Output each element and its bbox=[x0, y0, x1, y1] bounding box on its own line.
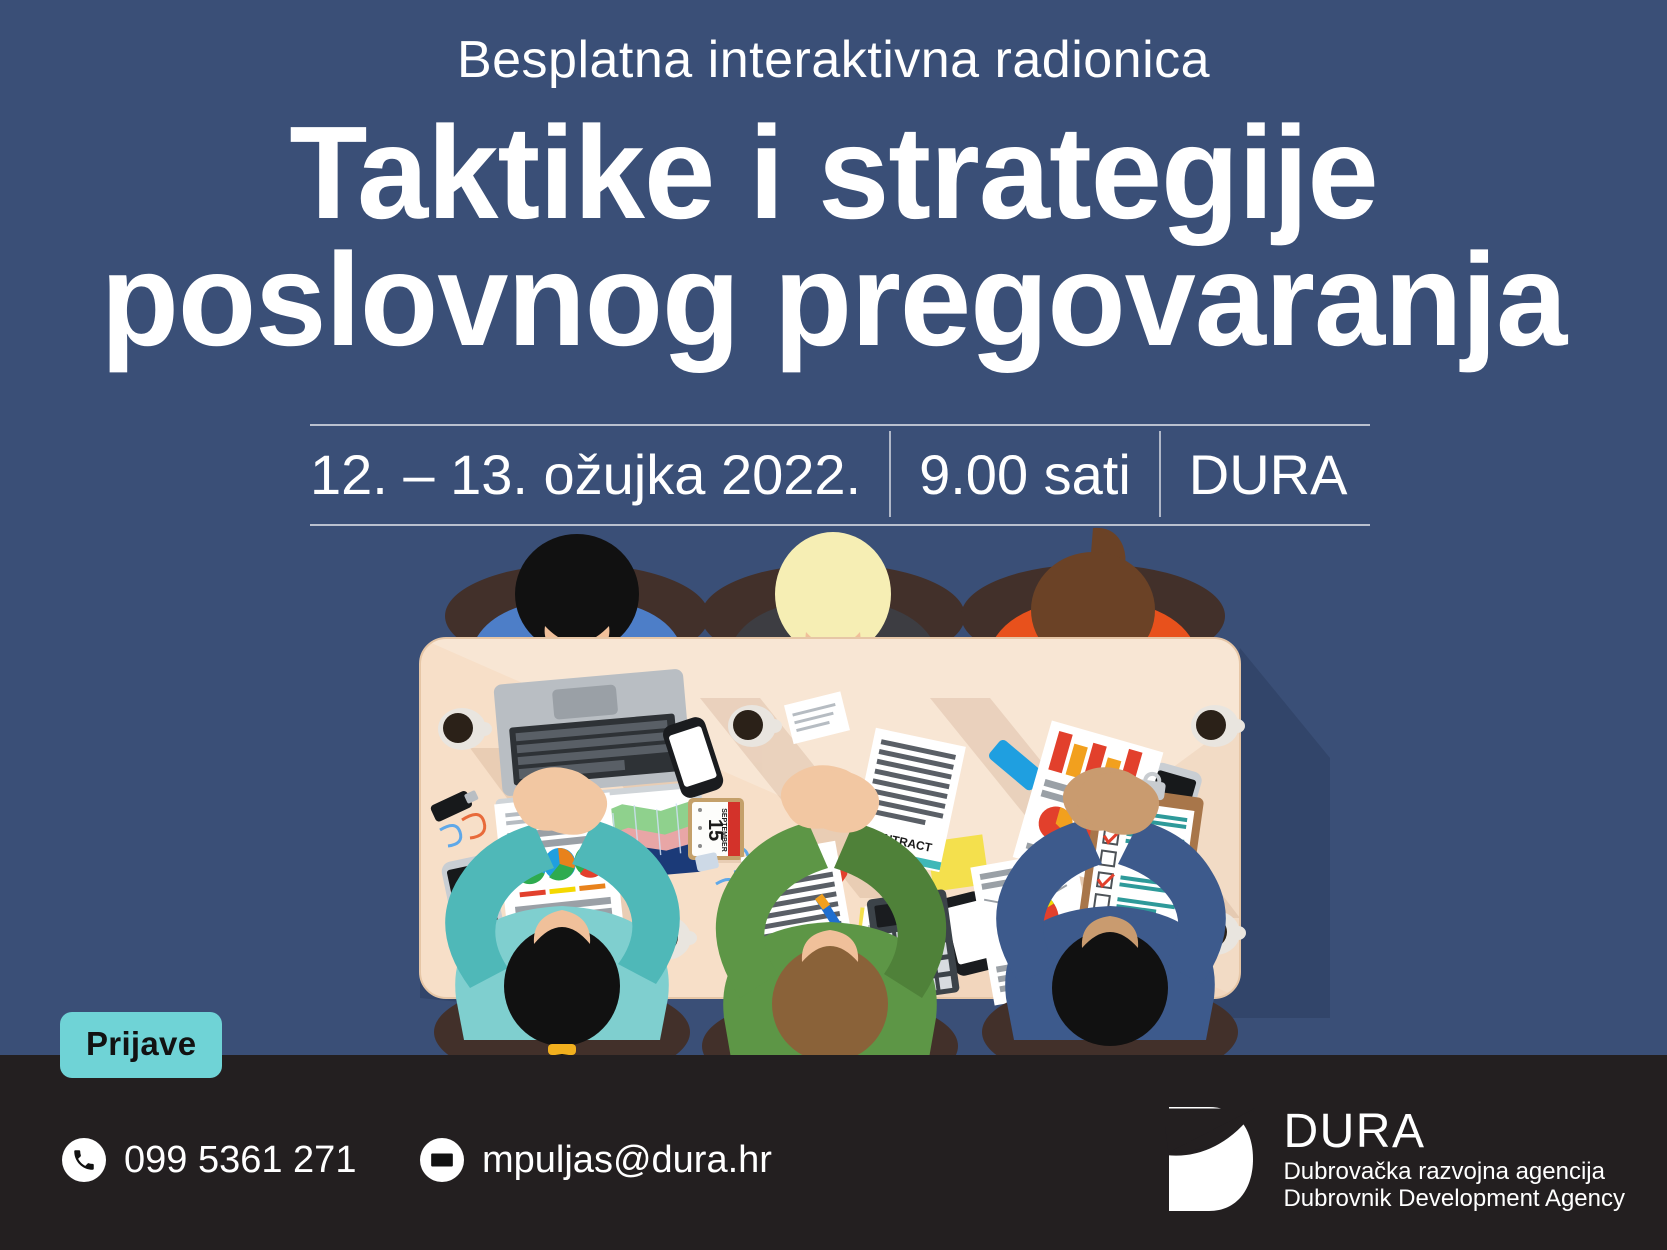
logo-name: DURA bbox=[1283, 1105, 1625, 1159]
logo-line-en: Dubrovnik Development Agency bbox=[1283, 1186, 1625, 1213]
calendar: SEPTEMBER 15 bbox=[688, 798, 744, 860]
svg-text:15: 15 bbox=[704, 819, 726, 841]
envelope-icon bbox=[420, 1138, 464, 1182]
phone-number: 099 5361 271 bbox=[124, 1139, 356, 1182]
kicker-text: Besplatna interaktivna radionica bbox=[0, 30, 1667, 90]
dura-d-mark-icon bbox=[1165, 1103, 1257, 1215]
logo-line-hr: Dubrovačka razvojna agencija bbox=[1283, 1159, 1625, 1186]
email-address: mpuljas@dura.hr bbox=[482, 1139, 772, 1182]
poster-canvas: Besplatna interaktivna radionica Taktike… bbox=[0, 0, 1667, 1250]
page-title: Taktike i strategije poslovnog pregovara… bbox=[25, 110, 1642, 363]
dura-logo-text: DURA Dubrovačka razvojna agencija Dubrov… bbox=[1283, 1105, 1625, 1213]
contact-phone[interactable]: 099 5361 271 bbox=[62, 1138, 356, 1182]
prijave-badge[interactable]: Prijave bbox=[60, 1012, 222, 1078]
title-line-2: poslovnog pregovaranja bbox=[25, 237, 1642, 364]
phone-icon bbox=[62, 1138, 106, 1182]
title-line-1: Taktike i strategije bbox=[25, 110, 1642, 237]
dura-logo: DURA Dubrovačka razvojna agencija Dubrov… bbox=[1165, 1103, 1625, 1215]
contact-email[interactable]: mpuljas@dura.hr bbox=[420, 1138, 772, 1182]
business-meeting-illustration: SEPTEMBER 15 bbox=[0, 498, 1667, 1098]
